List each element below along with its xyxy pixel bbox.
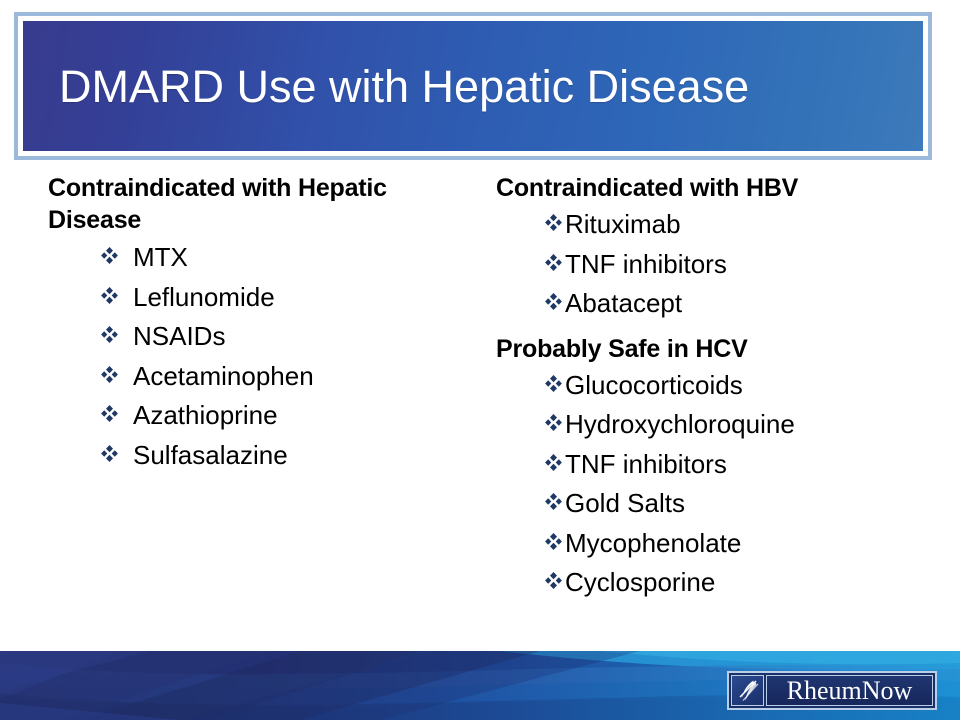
group-contraindicated-hepatic-disease: Contraindicated with Hepatic Disease <box>48 172 478 475</box>
list-item: TNF inhibitors <box>544 245 946 285</box>
right-column-list-hbv: Rituximab <box>496 205 946 324</box>
diamond-cluster-bullet-icon <box>544 453 563 472</box>
list-item: Azathioprine <box>100 396 478 436</box>
diamond-cluster-bullet-icon <box>100 365 119 384</box>
list-item-label: MTX <box>133 238 188 278</box>
diamond-cluster-bullet-icon <box>544 213 563 232</box>
list-item-label: Cyclosporine <box>565 563 715 603</box>
list-item: Sulfasalazine <box>100 436 478 476</box>
list-item: Leflunomide <box>100 278 478 318</box>
list-item-label: TNF inhibitors <box>565 445 727 485</box>
list-item: Cyclosporine <box>544 563 946 603</box>
rheumnow-logo-text: RheumNow <box>787 678 913 704</box>
list-item-label: Acetaminophen <box>133 357 314 397</box>
list-item-label: NSAIDs <box>133 317 225 357</box>
group-probably-safe-hcv: Probably Safe in HCV <box>496 333 946 603</box>
list-item-label: Azathioprine <box>133 396 278 436</box>
rheumnow-logo[interactable]: RheumNow <box>727 671 937 710</box>
list-item-label: Hydroxychloroquine <box>565 405 795 445</box>
diamond-cluster-bullet-icon <box>544 253 563 272</box>
diamond-cluster-bullet-icon <box>100 325 119 344</box>
list-item: Abatacept <box>544 284 946 324</box>
diamond-cluster-bullet-icon <box>100 444 119 463</box>
list-item-label: Abatacept <box>565 284 682 324</box>
rheumnow-swoosh-icon <box>731 675 764 706</box>
diamond-cluster-bullet-icon <box>100 246 119 265</box>
diamond-cluster-bullet-icon <box>100 404 119 423</box>
diamond-cluster-bullet-icon <box>544 374 563 393</box>
right-column-heading-hbv: Contraindicated with HBV <box>496 172 946 204</box>
diamond-cluster-bullet-icon <box>544 413 563 432</box>
list-item-label: Rituximab <box>565 205 681 245</box>
rheumnow-logo-text-box: RheumNow <box>766 675 933 706</box>
title-banner-gradient: DMARD Use with Hepatic Disease <box>23 21 923 151</box>
diamond-cluster-bullet-icon <box>544 492 563 511</box>
list-item: Hydroxychloroquine <box>544 405 946 445</box>
list-item-label: Mycophenolate <box>565 524 741 564</box>
list-item-label: Glucocorticoids <box>565 366 743 406</box>
group-contraindicated-hbv: Contraindicated with HBV <box>496 172 946 324</box>
list-item: NSAIDs <box>100 317 478 357</box>
left-column: Contraindicated with Hepatic Disease <box>48 172 478 475</box>
list-item-label: Leflunomide <box>133 278 275 318</box>
list-item: Glucocorticoids <box>544 366 946 406</box>
list-item-label: TNF inhibitors <box>565 245 727 285</box>
list-item-label: Sulfasalazine <box>133 436 288 476</box>
diamond-cluster-bullet-icon <box>100 286 119 305</box>
list-item: Rituximab <box>544 205 946 245</box>
page-title: DMARD Use with Hepatic Disease <box>23 64 749 109</box>
diamond-cluster-bullet-icon <box>544 571 563 590</box>
title-banner: DMARD Use with Hepatic Disease <box>14 12 932 160</box>
slide: DMARD Use with Hepatic Disease Contraind… <box>0 0 960 720</box>
left-column-list: MTX <box>48 238 478 475</box>
list-item-label: Gold Salts <box>565 484 685 524</box>
right-column-heading-hcv: Probably Safe in HCV <box>496 333 946 365</box>
diamond-cluster-bullet-icon <box>544 532 563 551</box>
list-item: TNF inhibitors <box>544 445 946 485</box>
right-column-list-hcv: Glucocorticoids <box>496 366 946 603</box>
diamond-cluster-bullet-icon <box>544 292 563 311</box>
content-columns: Contraindicated with Hepatic Disease <box>0 172 960 647</box>
right-column: Contraindicated with HBV <box>496 172 946 603</box>
left-column-heading: Contraindicated with Hepatic Disease <box>48 172 478 236</box>
list-item: MTX <box>100 238 478 278</box>
list-item: Gold Salts <box>544 484 946 524</box>
list-item: Mycophenolate <box>544 524 946 564</box>
list-item: Acetaminophen <box>100 357 478 397</box>
